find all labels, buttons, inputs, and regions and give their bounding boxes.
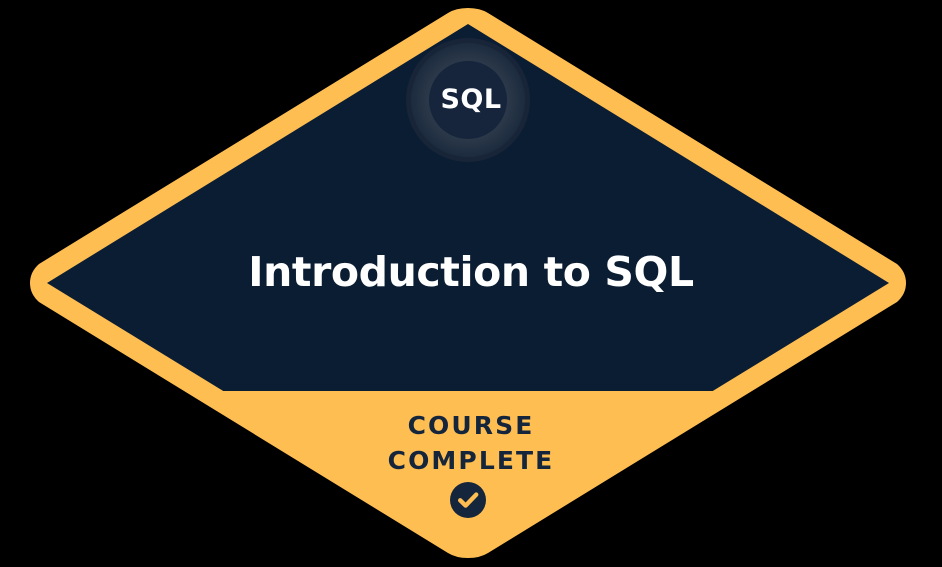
course-badge-graphic[interactable] (0, 0, 942, 567)
check-circle-icon (450, 482, 486, 518)
badge-stage: SQL Introduction to SQL COURSE COMPLETE (0, 0, 942, 567)
sql-ring-icon (406, 38, 530, 162)
